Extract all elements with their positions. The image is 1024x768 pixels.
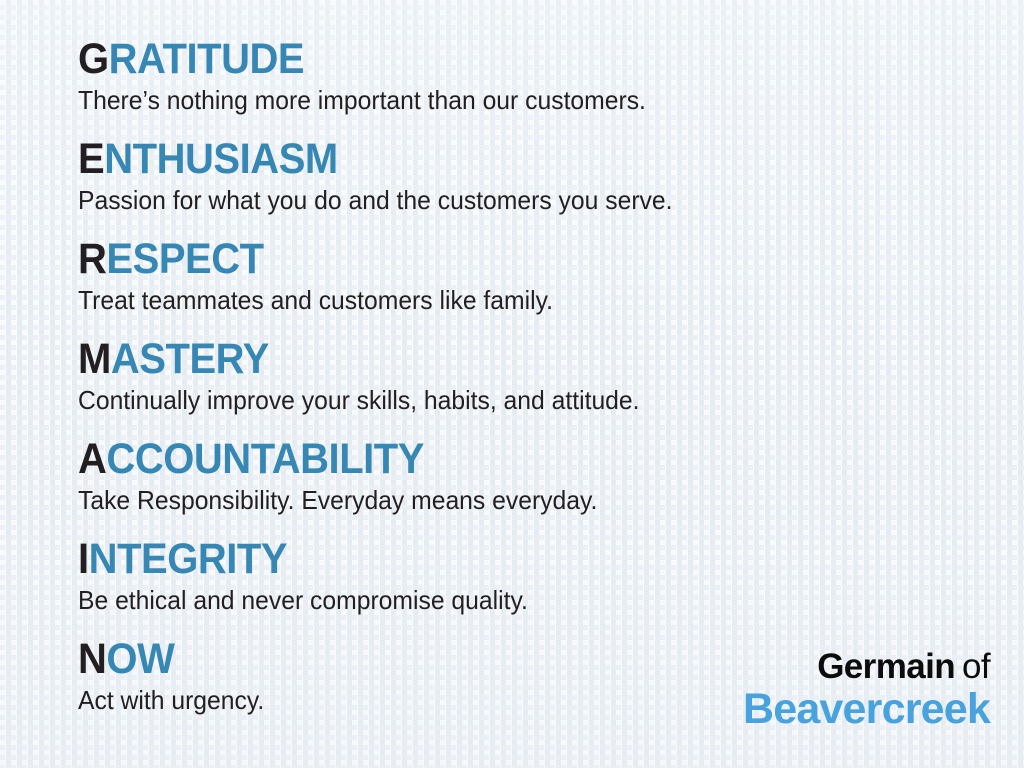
values-poster: GRATITUDE There’s nothing more important… xyxy=(0,0,1024,768)
value-remaining-letters: ASTERY xyxy=(111,335,269,383)
value-initial-letter: N xyxy=(78,635,106,683)
value-description-enthusiasm: Passion for what you do and the customer… xyxy=(78,184,933,216)
value-initial-letter: G xyxy=(78,35,109,83)
value-description-mastery: Continually improve your skills, habits,… xyxy=(78,384,933,416)
value-item-accountability: ACCOUNTABILITY Take Responsibility. Ever… xyxy=(78,436,978,536)
value-initial-letter: I xyxy=(78,535,89,583)
value-remaining-letters: RATITUDE xyxy=(109,35,304,83)
value-description-accountability: Take Responsibility. Everyday means ever… xyxy=(78,484,933,516)
value-heading-accountability: ACCOUNTABILITY xyxy=(78,436,915,482)
brand-location-name: Beavercreek xyxy=(743,686,990,732)
value-item-enthusiasm: ENTHUSIASM Passion for what you do and t… xyxy=(78,136,978,236)
brand-dealer-name: Germain xyxy=(817,647,955,686)
value-heading-mastery: MASTERY xyxy=(78,336,915,382)
value-initial-letter: A xyxy=(78,435,106,483)
value-heading-enthusiasm: ENTHUSIASM xyxy=(78,136,915,182)
value-description-respect: Treat teammates and customers like famil… xyxy=(78,284,933,316)
value-remaining-letters: NTEGRITY xyxy=(89,535,287,583)
value-heading-gratitude: GRATITUDE xyxy=(78,36,915,82)
value-initial-letter: E xyxy=(78,135,104,183)
value-item-integrity: INTEGRITY Be ethical and never compromis… xyxy=(78,536,978,636)
value-remaining-letters: NTHUSIASM xyxy=(104,135,338,183)
value-item-respect: RESPECT Treat teammates and customers li… xyxy=(78,236,978,336)
value-remaining-letters: OW xyxy=(106,635,174,683)
value-item-mastery: MASTERY Continually improve your skills,… xyxy=(78,336,978,436)
brand-logo: Germainof Beavercreek xyxy=(743,647,990,732)
value-remaining-letters: CCOUNTABILITY xyxy=(106,435,424,483)
brand-connector-word: of xyxy=(962,647,990,686)
value-description-integrity: Be ethical and never compromise quality. xyxy=(78,584,933,616)
core-values-list: GRATITUDE There’s nothing more important… xyxy=(78,36,978,736)
brand-logo-line-one: Germainof xyxy=(743,647,990,686)
value-remaining-letters: ESPECT xyxy=(106,235,263,283)
value-initial-letter: R xyxy=(78,235,106,283)
value-initial-letter: M xyxy=(78,335,111,383)
value-heading-integrity: INTEGRITY xyxy=(78,536,915,582)
value-description-gratitude: There’s nothing more important than our … xyxy=(78,84,933,116)
value-item-gratitude: GRATITUDE There’s nothing more important… xyxy=(78,36,978,136)
value-heading-respect: RESPECT xyxy=(78,236,915,282)
